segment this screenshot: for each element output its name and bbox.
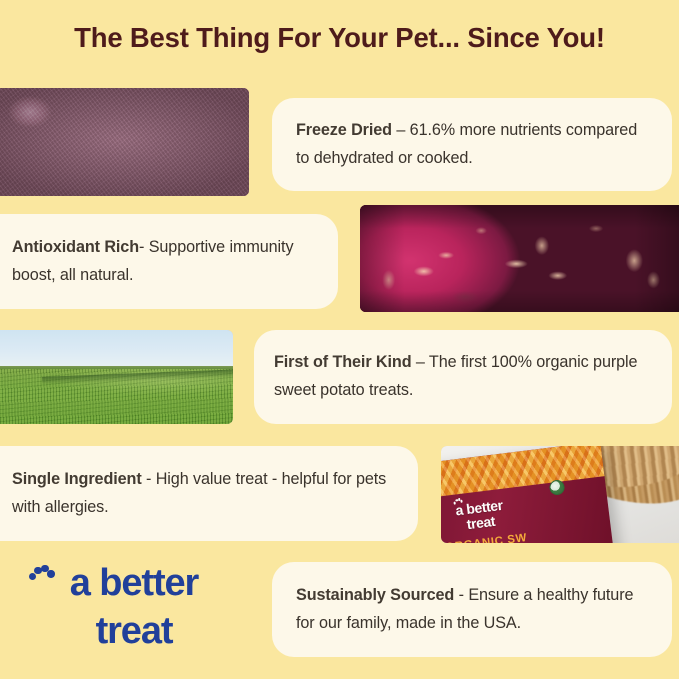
logo-line1-wrap: a better bbox=[20, 564, 248, 602]
infographic-root: The Best Thing For Your Pet... Since You… bbox=[0, 0, 679, 679]
feature-card-first-of-their-kind: First of Their Kind – The first 100% org… bbox=[254, 330, 672, 424]
feature-title-first-of-their-kind: First of Their Kind bbox=[274, 353, 412, 371]
treat-pouch: a better treat ORGANIC SW FREEZ bbox=[441, 446, 614, 543]
feature-title-antioxidant-rich: Antioxidant Rich bbox=[12, 238, 139, 256]
feature-title-single-ingredient: Single Ingredient bbox=[12, 470, 142, 488]
feature-text-antioxidant-rich: Antioxidant Rich- Supportive immunity bo… bbox=[12, 234, 314, 290]
potatoes-shading-overlay bbox=[360, 205, 679, 312]
feature-title-freeze-dried: Freeze Dried bbox=[296, 121, 392, 139]
feature-card-freeze-dried: Freeze Dried – 61.6% more nutrients comp… bbox=[272, 98, 672, 191]
feature-card-sustainably-sourced: Sustainably Sourced - Ensure a healthy f… bbox=[272, 562, 672, 657]
photo-raw-purple-sweet-potatoes bbox=[360, 205, 679, 312]
feature-text-sustainably-sourced: Sustainably Sourced - Ensure a healthy f… bbox=[296, 582, 648, 638]
page-title: The Best Thing For Your Pet... Since You… bbox=[0, 22, 679, 54]
feature-card-single-ingredient: Single Ingredient - High value treat - h… bbox=[0, 446, 418, 541]
field-sky bbox=[0, 330, 233, 368]
feature-card-antioxidant-rich: Antioxidant Rich- Supportive immunity bo… bbox=[0, 214, 338, 309]
pouch-brand-lockup: a better treat bbox=[454, 498, 505, 533]
chips-shading-overlay bbox=[0, 88, 249, 196]
feature-title-sustainably-sourced: Sustainably Sourced bbox=[296, 586, 454, 604]
paw-print-icon bbox=[453, 498, 463, 506]
paw-print-icon bbox=[29, 565, 53, 582]
feature-text-freeze-dried: Freeze Dried – 61.6% more nutrients comp… bbox=[296, 117, 648, 173]
brand-logo: a better treat bbox=[20, 560, 248, 664]
logo-line1: a better bbox=[70, 562, 198, 604]
photo-product-package: a better treat ORGANIC SW FREEZ bbox=[441, 446, 679, 543]
feature-text-first-of-their-kind: First of Their Kind – The first 100% org… bbox=[274, 349, 652, 405]
pouch-organic-text: ORGANIC SW bbox=[445, 533, 528, 543]
logo-line2: treat bbox=[20, 612, 248, 650]
photo-farm-field bbox=[0, 330, 233, 424]
photo-freeze-dried-chips bbox=[0, 88, 249, 196]
feature-text-single-ingredient: Single Ingredient - High value treat - h… bbox=[12, 466, 394, 522]
